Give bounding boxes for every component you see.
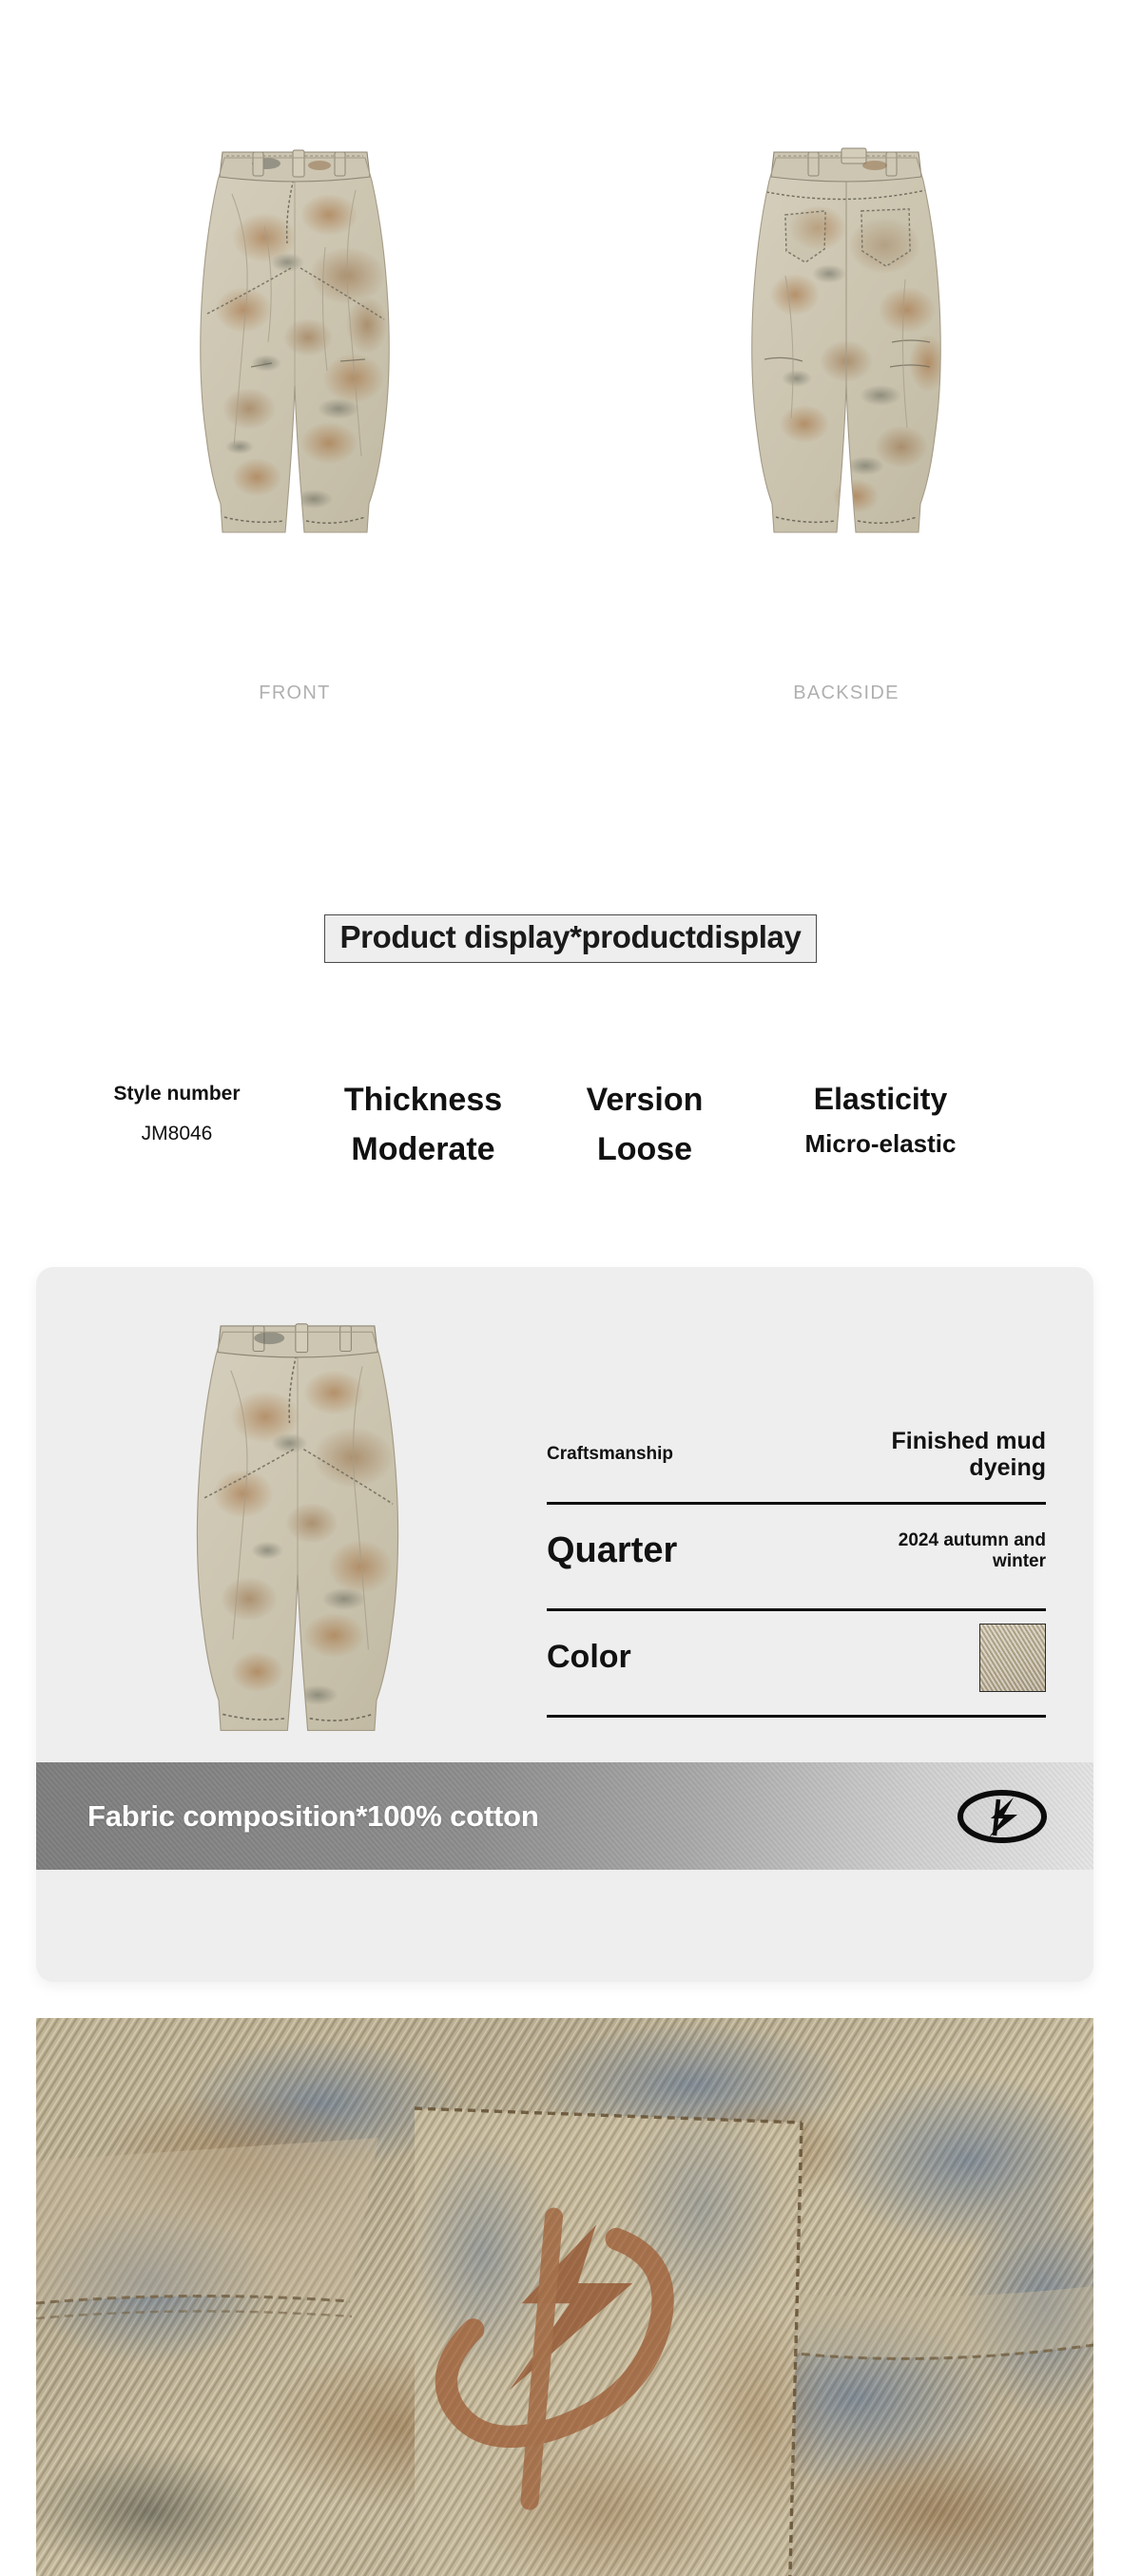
front-view-label: FRONT: [152, 682, 437, 704]
spec-key: Elasticity: [757, 1084, 1004, 1116]
spec-item-thickness: Thickness Moderate: [304, 1084, 542, 1166]
spec-value: JM8046: [63, 1124, 291, 1144]
belt-loop-embroidered-logo-closeup[interactable]: [36, 2018, 1093, 2576]
spec-key: Style number: [63, 1084, 291, 1105]
spec-key: Thickness: [304, 1084, 542, 1118]
spec-item-version: Version Loose: [550, 1084, 740, 1166]
color-swatch[interactable]: [979, 1624, 1046, 1692]
backside-view-label: BACKSIDE: [704, 682, 989, 704]
brand-emblem-icon: [957, 1786, 1048, 1847]
spec-item-style-number: Style number JM8046: [63, 1084, 291, 1144]
fabric-composition-text: Fabric composition*100% cotton: [87, 1799, 539, 1834]
section-title: Product display*productdisplay: [324, 914, 818, 963]
row-label: Quarter: [547, 1530, 677, 1571]
mud-dyed-wide-leg-pants[interactable]: [107, 1296, 488, 1771]
table-row: Quarter 2024 autumn and winter: [547, 1505, 1046, 1611]
spec-value: Moderate: [304, 1133, 542, 1167]
table-row: Color: [547, 1611, 1046, 1718]
row-label: Craftsmanship: [547, 1444, 673, 1465]
detail-spec-table: Craftsmanship Finished mud dyeing Quarte…: [547, 1417, 1046, 1718]
spec-item-elasticity: Elasticity Micro-elastic: [757, 1084, 1004, 1157]
fabric-composition-banner: Fabric composition*100% cotton: [36, 1762, 1093, 1870]
product-detail-page: FRONT BACKSIDE Product display*productdi…: [0, 0, 1141, 2576]
detail-card: Craftsmanship Finished mud dyeing Quarte…: [36, 1267, 1093, 1982]
row-label: Color: [547, 1639, 631, 1676]
spec-strip: Style number JM8046 Thickness Moderate V…: [0, 1084, 1141, 1166]
backside-view-pants[interactable]: [704, 124, 989, 570]
row-value: Finished mud dyeing: [837, 1428, 1046, 1481]
hero-gallery: FRONT BACKSIDE: [0, 0, 1141, 760]
spec-value: Micro-elastic: [757, 1131, 1004, 1157]
row-value: 2024 autumn and winter: [846, 1530, 1046, 1571]
section-title-wrapper: Product display*productdisplay: [0, 914, 1141, 963]
front-view-pants[interactable]: [152, 124, 437, 570]
table-row: Craftsmanship Finished mud dyeing: [547, 1417, 1046, 1505]
spec-key: Version: [550, 1084, 740, 1118]
spec-value: Loose: [550, 1133, 740, 1167]
